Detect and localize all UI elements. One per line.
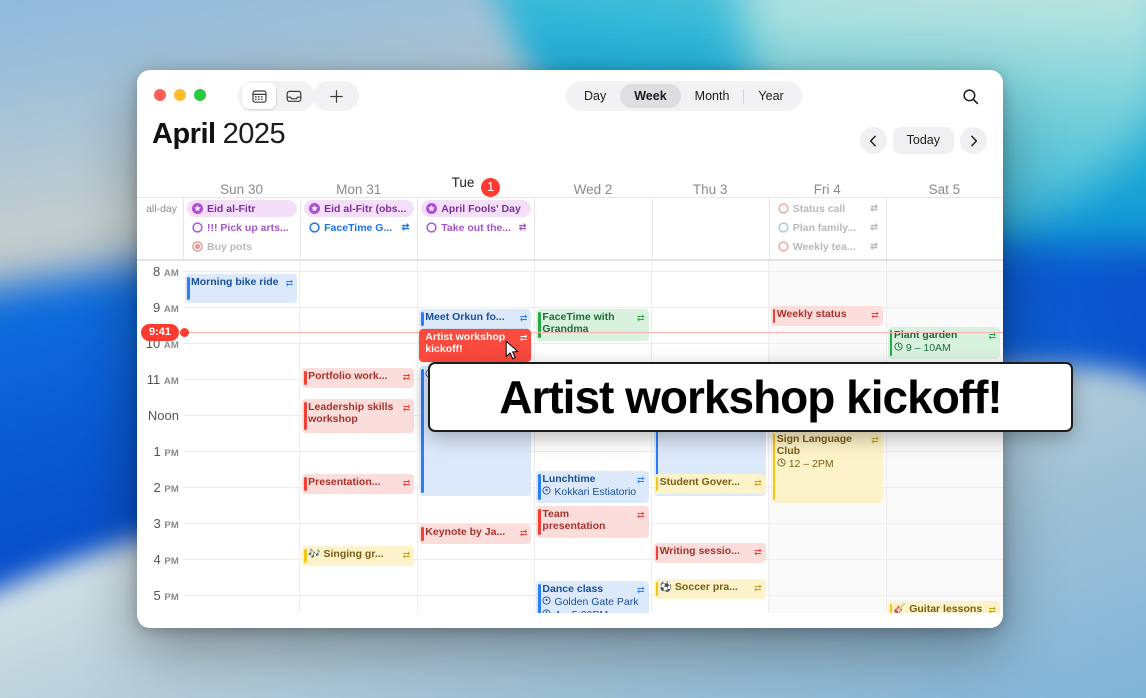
add-event-button[interactable] xyxy=(313,81,359,111)
view-mode-pill xyxy=(238,81,315,111)
event-color-bar xyxy=(538,312,541,338)
day-header-sat[interactable]: Sat 5 xyxy=(886,182,1003,197)
close-button[interactable] xyxy=(154,89,166,101)
today-badge: 1 xyxy=(481,178,500,197)
calendar-event[interactable]: ⇄Meet Orkun fo... xyxy=(419,309,531,329)
tab-day[interactable]: Day xyxy=(570,84,620,108)
day-header-sun[interactable]: Sun 30 xyxy=(183,182,300,197)
day-header-wed[interactable]: Wed 2 xyxy=(534,182,651,197)
event-title: 🎶 Singing gr... xyxy=(308,548,410,561)
tab-month[interactable]: Month xyxy=(681,84,744,108)
all-day-col-3[interactable] xyxy=(534,198,651,259)
repeat-icon: ⇄ xyxy=(403,549,411,561)
clock-icon xyxy=(542,609,551,613)
all-day-event[interactable]: Take out the...⇄ xyxy=(421,219,531,236)
hour-label: 3 PM xyxy=(137,516,179,531)
event-time-range: 4 – 5:30PM xyxy=(542,609,644,613)
event-color-bar xyxy=(773,309,776,323)
all-day-event-title: April Fools' Day xyxy=(441,203,526,215)
all-day-col-1[interactable]: Eid al-Fitr (obs...FaceTime G...⇄ xyxy=(300,198,417,259)
all-day-col-2[interactable]: April Fools' DayTake out the...⇄ xyxy=(417,198,534,259)
calendar-event[interactable]: ⇄Portfolio work... xyxy=(302,368,414,388)
event-title: Portfolio work... xyxy=(308,370,410,382)
all-day-event-title: Take out the... xyxy=(441,222,515,234)
day-number: 31 xyxy=(366,182,381,197)
day-name: Mon xyxy=(336,182,362,197)
event-title: Keynote by Ja... xyxy=(425,526,527,538)
calendar-event[interactable]: ⇄Student Gover... xyxy=(654,474,766,494)
all-day-event-title: !!! Pick up arts... xyxy=(207,222,292,234)
all-day-col-0[interactable]: Eid al-Fitr!!! Pick up arts...Buy pots xyxy=(183,198,300,259)
day-name: Thu xyxy=(693,182,716,197)
repeat-icon: ⇄ xyxy=(637,312,645,324)
all-day-event-title: Status call xyxy=(793,203,867,215)
event-color-bar xyxy=(656,477,659,491)
inbox-icon[interactable] xyxy=(277,83,311,109)
event-color-bar xyxy=(890,604,893,613)
repeat-icon: ⇄ xyxy=(870,241,878,252)
time-grid: 8 AM9 AM10 AM11 AMNoon1 PM2 PM3 PM4 PM5 … xyxy=(137,261,1003,613)
calendar-event[interactable]: ⇄Leadership skills workshop xyxy=(302,399,414,433)
location-icon xyxy=(542,486,551,498)
repeat-icon: ⇄ xyxy=(871,434,879,446)
calendar-event[interactable]: ⇄Morning bike ride xyxy=(185,274,297,303)
day-header-fri[interactable]: Fri 4 xyxy=(769,182,886,197)
all-day-event[interactable]: Plan family...⇄ xyxy=(773,219,883,236)
all-day-event[interactable]: !!! Pick up arts... xyxy=(187,219,297,236)
hour-label: 5 PM xyxy=(137,588,179,603)
event-subtitle: 9 – 10AM xyxy=(894,342,996,354)
repeat-icon: ⇄ xyxy=(520,527,528,539)
calendar-event[interactable]: ⇄Weekly status xyxy=(771,306,883,326)
current-time-dot xyxy=(180,328,189,337)
hour-label: 2 PM xyxy=(137,480,179,495)
event-subtitle-text: Golden Gate Park xyxy=(554,596,638,608)
all-day-event[interactable]: Weekly tea...⇄ xyxy=(773,238,883,255)
event-emoji-icon: ⚽ xyxy=(660,582,672,593)
reminder-circle-icon[interactable] xyxy=(778,222,789,233)
repeat-icon: ⇄ xyxy=(286,277,294,289)
location-icon xyxy=(542,596,551,608)
reminder-circle-icon[interactable] xyxy=(192,222,203,233)
event-color-bar xyxy=(304,402,307,430)
event-subtitle: Golden Gate Park xyxy=(542,596,644,608)
event-color-bar xyxy=(304,549,307,563)
reminder-circle-icon[interactable] xyxy=(426,222,437,233)
hour-label: Noon xyxy=(137,408,179,423)
all-day-event[interactable]: Eid al-Fitr xyxy=(187,200,297,217)
day-name: Wed xyxy=(574,182,602,197)
hour-line xyxy=(183,343,1003,344)
hour-label: 8 AM xyxy=(137,264,179,279)
hour-label: 9 AM xyxy=(137,300,179,315)
event-title: 🎸 Guitar lessons with S xyxy=(894,603,996,613)
event-title: Team presentation xyxy=(542,508,644,532)
all-day-event[interactable]: April Fools' Day xyxy=(421,200,531,217)
day-name: Fri xyxy=(814,182,830,197)
repeat-icon: ⇄ xyxy=(403,402,411,414)
repeat-icon: ⇄ xyxy=(637,474,645,486)
event-color-bar xyxy=(538,474,541,500)
search-icon[interactable] xyxy=(955,81,985,111)
event-emoji-icon: 🎶 xyxy=(308,549,320,560)
event-title-callout: Artist workshop kickoff! xyxy=(428,362,1073,432)
hour-label: 4 PM xyxy=(137,552,179,567)
repeat-icon: ⇄ xyxy=(403,477,411,489)
event-time-text: 4 – 5:30PM xyxy=(554,609,608,613)
event-color-bar xyxy=(656,546,659,560)
repeat-icon: ⇄ xyxy=(754,546,762,558)
clock-icon xyxy=(894,342,903,354)
all-day-col-6[interactable] xyxy=(886,198,1003,259)
repeat-icon: ⇄ xyxy=(402,222,410,233)
completed-circle-icon[interactable] xyxy=(192,241,203,252)
day-name: Tue xyxy=(452,175,475,190)
star-badge-icon xyxy=(192,203,203,214)
day-number: 4 xyxy=(833,182,841,197)
repeat-icon: ⇄ xyxy=(520,312,528,324)
event-title: Weekly status xyxy=(777,308,879,320)
all-day-event-title: Buy pots xyxy=(207,241,292,253)
event-title: Morning bike ride xyxy=(191,276,293,288)
all-day-label: all-day xyxy=(137,198,183,259)
all-day-event[interactable]: FaceTime G...⇄ xyxy=(304,219,414,236)
all-day-event-title: FaceTime G... xyxy=(324,222,398,234)
event-emoji-icon: 🎸 xyxy=(894,604,906,613)
calendar-event[interactable]: ⇄LunchtimeKokkari Estiatorio xyxy=(536,471,648,503)
next-week-button[interactable] xyxy=(960,127,987,154)
calendar-event[interactable]: ⇄Keynote by Ja... xyxy=(419,524,531,544)
calendar-event[interactable]: ⇄⚽ Soccer pra... xyxy=(654,579,766,599)
event-title: Leadership skills workshop xyxy=(308,401,410,425)
repeat-icon: ⇄ xyxy=(870,222,878,233)
view-switcher: Day Week Month Year xyxy=(566,81,802,111)
day-number: 5 xyxy=(953,182,961,197)
all-day-event[interactable]: Status call⇄ xyxy=(773,200,883,217)
star-badge-icon xyxy=(426,203,437,214)
event-color-bar xyxy=(421,369,424,493)
reminder-circle-icon[interactable] xyxy=(778,203,789,214)
callout-text: Artist workshop kickoff! xyxy=(499,370,1002,424)
repeat-icon: ⇄ xyxy=(754,477,762,489)
hour-label: 1 PM xyxy=(137,444,179,459)
all-day-event-title: Eid al-Fitr xyxy=(207,203,292,215)
day-number: 2 xyxy=(605,182,613,197)
calendar-event[interactable]: ⇄FaceTime with Grandma xyxy=(536,309,648,341)
event-color-bar xyxy=(890,330,893,356)
day-name: Sun xyxy=(220,182,244,197)
day-header-tue[interactable]: Tue 1 xyxy=(417,175,534,197)
repeat-icon: ⇄ xyxy=(637,584,645,596)
repeat-icon: ⇄ xyxy=(754,582,762,594)
event-color-bar xyxy=(773,434,776,500)
day-header-mon[interactable]: Mon 31 xyxy=(300,182,417,197)
repeat-icon: ⇄ xyxy=(988,604,996,613)
event-title: Presentation... xyxy=(308,476,410,488)
calendar-event[interactable]: ⇄Presentation... xyxy=(302,474,414,494)
event-color-bar xyxy=(656,582,659,596)
all-day-event-title: Weekly tea... xyxy=(793,241,867,253)
calendar-event[interactable]: ⇄Team presentation xyxy=(536,506,648,538)
event-color-bar xyxy=(421,332,424,359)
event-subtitle-text: 9 – 10AM xyxy=(906,342,951,354)
repeat-icon: ⇄ xyxy=(871,309,879,321)
calendar-window: Day Week Month Year April2025 Today xyxy=(137,70,1003,628)
day-header-row: Sun 30 Mon 31 Tue 1 Wed 2 Thu 3 Fri 4 Sa… xyxy=(137,172,1003,197)
event-title: Lunchtime xyxy=(542,473,644,485)
event-title: Student Gover... xyxy=(660,476,762,488)
event-color-bar xyxy=(304,371,307,385)
all-day-event-title: Eid al-Fitr (obs... xyxy=(324,203,409,215)
event-color-bar xyxy=(538,509,541,535)
traffic-lights xyxy=(154,89,206,101)
zoom-button[interactable] xyxy=(194,89,206,101)
repeat-icon: ⇄ xyxy=(403,371,411,383)
all-day-row: all-day Eid al-Fitr!!! Pick up arts...Bu… xyxy=(137,197,1003,261)
tab-year[interactable]: Year xyxy=(744,84,797,108)
tab-week[interactable]: Week xyxy=(620,84,680,108)
event-subtitle: Kokkari Estiatorio xyxy=(542,486,644,498)
all-day-col-5[interactable]: Status call⇄Plan family...⇄Weekly tea...… xyxy=(769,198,886,259)
header-year: 2025 xyxy=(223,118,286,150)
header-month: April xyxy=(152,118,216,150)
event-color-bar xyxy=(187,277,190,300)
calendar-icon[interactable] xyxy=(242,83,276,109)
prev-week-button[interactable] xyxy=(860,127,887,154)
calendar-event[interactable]: ⇄Sign Language Club12 – 2PM xyxy=(771,431,883,503)
today-button[interactable]: Today xyxy=(893,127,954,154)
event-subtitle: 12 – 2PM xyxy=(777,458,879,470)
event-title: Sign Language Club xyxy=(777,433,879,457)
window-toolbar: Day Week Month Year xyxy=(137,70,1003,122)
minimize-button[interactable] xyxy=(174,89,186,101)
repeat-icon: ⇄ xyxy=(870,203,878,214)
event-title: Meet Orkun fo... xyxy=(425,311,527,323)
repeat-icon: ⇄ xyxy=(519,222,527,233)
calendar-event[interactable]: ⇄🎶 Singing gr... xyxy=(302,546,414,566)
all-day-event-title: Plan family... xyxy=(793,222,867,234)
repeat-icon: ⇄ xyxy=(637,509,645,521)
clock-icon xyxy=(777,458,786,470)
event-title: ⚽ Soccer pra... xyxy=(660,581,762,594)
page-title: April2025 xyxy=(152,118,285,151)
event-subtitle-text: 12 – 2PM xyxy=(789,458,834,470)
repeat-icon: ⇄ xyxy=(520,332,528,344)
event-color-bar xyxy=(421,527,424,541)
day-number: 30 xyxy=(248,182,263,197)
reminder-circle-icon[interactable] xyxy=(309,222,320,233)
date-nav-group: Today xyxy=(860,127,987,154)
day-name: Sat xyxy=(929,182,949,197)
current-time-line xyxy=(183,332,1003,333)
calendar-event[interactable]: ⇄Dance classGolden Gate Park4 – 5:30PM xyxy=(536,581,648,613)
calendar-header: April2025 Today xyxy=(137,122,1003,172)
event-color-bar xyxy=(304,477,307,491)
all-day-event[interactable]: Eid al-Fitr (obs... xyxy=(304,200,414,217)
day-number: 3 xyxy=(720,182,728,197)
event-color-bar xyxy=(421,312,424,326)
hour-line xyxy=(183,271,1003,272)
event-title: Dance class xyxy=(542,583,644,595)
event-color-bar xyxy=(538,584,541,613)
star-badge-icon xyxy=(309,203,320,214)
all-day-event[interactable]: Buy pots xyxy=(187,238,297,255)
calendar-event[interactable]: ⇄Writing sessio... xyxy=(654,543,766,563)
reminder-circle-icon[interactable] xyxy=(778,241,789,252)
day-header-thu[interactable]: Thu 3 xyxy=(652,182,769,197)
event-subtitle-text: Kokkari Estiatorio xyxy=(554,486,636,498)
calendar-event[interactable]: ⇄🎸 Guitar lessons with S xyxy=(888,601,1000,613)
event-title: Writing sessio... xyxy=(660,545,762,557)
hour-label: 11 AM xyxy=(137,372,179,387)
current-time-badge: 9:41 xyxy=(141,324,179,341)
all-day-col-4[interactable] xyxy=(652,198,769,259)
